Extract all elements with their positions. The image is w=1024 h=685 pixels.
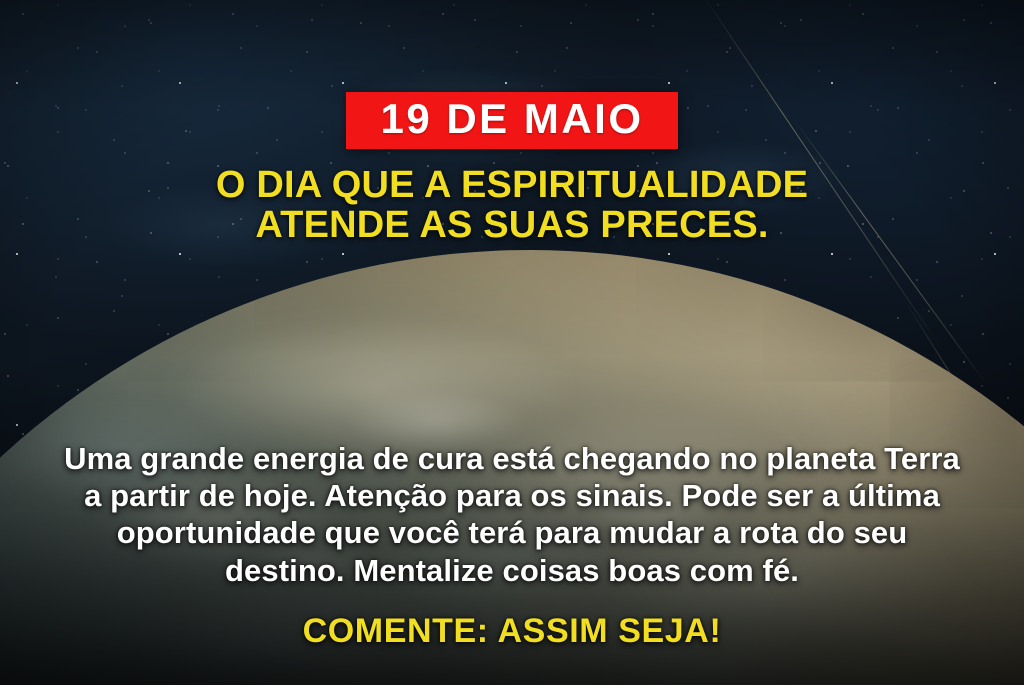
body-paragraph: Uma grande energia de cura está chegando… — [0, 440, 1024, 589]
headline: O DIA QUE A ESPIRITUALIDADE ATENDE AS SU… — [176, 165, 848, 246]
call-to-action-label: COMENTE: ASSIM SEJA! — [0, 612, 1024, 651]
poster-canvas: 19 DE MAIO O DIA QUE A ESPIRITUALIDADE A… — [0, 0, 1024, 685]
headline-line-2: ATENDE AS SUAS PRECES. — [216, 205, 808, 245]
poster-content: 19 DE MAIO O DIA QUE A ESPIRITUALIDADE A… — [0, 0, 1024, 685]
headline-line-1: O DIA QUE A ESPIRITUALIDADE — [216, 164, 808, 206]
date-banner: 19 DE MAIO — [346, 92, 677, 149]
date-banner-label: 19 DE MAIO — [380, 98, 643, 140]
